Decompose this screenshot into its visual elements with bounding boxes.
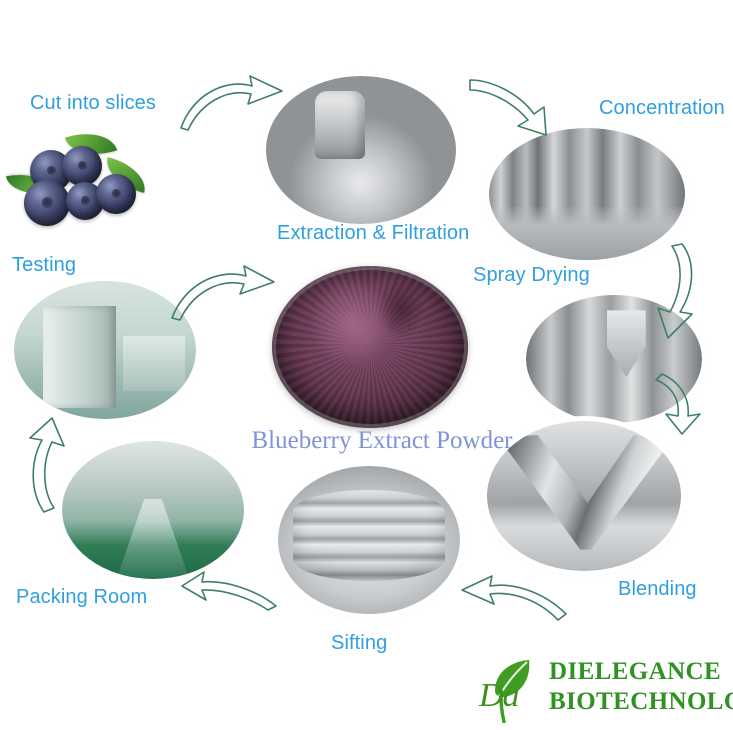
step-label-testing: Testing [12,254,76,277]
blueberries-photo [8,128,158,230]
blueberry [24,180,70,226]
step-label-packing-room: Packing Room [16,586,147,609]
lab-testing-photo [14,281,196,419]
oval-sifting[interactable] [278,466,460,614]
step-label-extraction-filtration: Extraction & Filtration [277,222,469,245]
step-label-concentration: Concentration [599,97,725,120]
step-label-blending: Blending [618,578,697,601]
logo-wordmark: DIELEGANCE BIOTECHNOLOGY [549,657,733,717]
oval-extraction-filtration[interactable] [266,76,456,224]
arrow-blending-to-sifting [460,570,570,624]
extraction-tank-photo [266,76,456,224]
oval-testing[interactable] [14,281,196,419]
page-title: Blueberry Extract Powder [232,427,532,455]
vibrating-sieve-photo [278,466,460,614]
blueberry [96,174,136,214]
lab-bench [123,336,185,391]
logo-line-2: BIOTECHNOLOGY [549,687,733,717]
process-flow-infographic: Cut into slices Extraction & Filtration … [0,0,733,730]
logo-monogram: Da [479,677,519,715]
oval-concentration[interactable] [489,128,685,260]
arrow-extraction-to-concentration [468,74,578,138]
spray-dryer-photo [526,295,702,423]
step-label-sifting: Sifting [331,632,387,655]
step-label-spray-drying: Spray Drying [473,264,590,287]
oval-packing-room[interactable] [62,441,244,579]
blueberry [62,146,102,186]
company-logo: Da DIELEGANCE BIOTECHNOLOGY [477,655,727,725]
step-label-cut-into-slices: Cut into slices [30,92,156,115]
packing-room-photo [62,441,244,579]
concentration-tanks-photo [489,128,685,260]
oval-spray-drying[interactable] [526,295,702,423]
blueberry-extract-powder-photo [272,266,468,428]
logo-line-1: DIELEGANCE [549,657,733,687]
